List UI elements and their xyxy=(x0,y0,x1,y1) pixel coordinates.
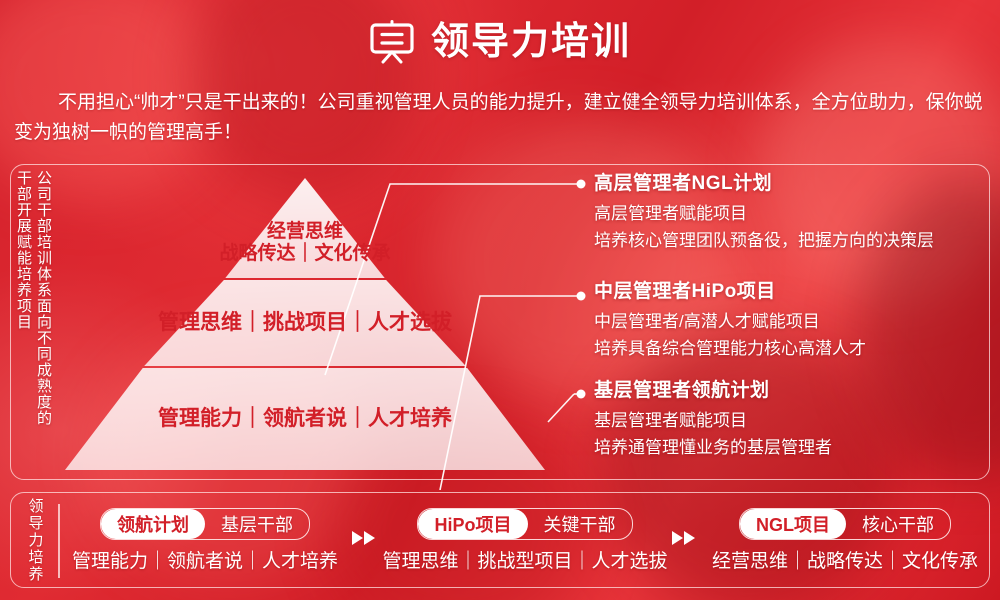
annotation-pilot-title: 基层管理者领航计划 xyxy=(594,379,994,403)
stage-desc-ngl: 经营思维｜战略传达｜文化传承 xyxy=(712,546,978,573)
subtitle-paragraph: 不用担心“帅才”只是干出来的！公司重视管理人员的能力提升，建立健全领导力培训体系… xyxy=(0,88,1000,148)
annotation-pilot: 基层管理者领航计划 基层管理者赋能项目 培养通管理懂业务的基层管理者 xyxy=(594,379,994,461)
stage-pill-hipo-sub: 关键干部 xyxy=(528,509,632,539)
annotation-hipo-line1: 中层管理者/高潜人才赋能项目 xyxy=(594,308,994,335)
annotation-pilot-line2: 培养通管理懂业务的基层管理者 xyxy=(594,434,994,461)
annotation-hipo: 中层管理者HiPo项目 中层管理者/高潜人才赋能项目 培养具备综合管理能力核心高… xyxy=(594,280,994,362)
annotation-ngl: 高层管理者NGL计划 高层管理者赋能项目 培养核心管理团队预备役，把握方向的决策… xyxy=(594,172,994,254)
page-header: 领导力培训 xyxy=(0,14,1000,70)
stage-item-ngl[interactable]: NGL项目 核心干部 经营思维｜战略传达｜文化传承 xyxy=(702,508,988,573)
stage-desc-pilot: 管理能力｜领航者说｜人才培养 xyxy=(72,546,338,573)
pyramid-tier-top[interactable]: 经营思维 战略传达｜文化传承 xyxy=(65,178,545,278)
annotation-hipo-line2: 培养具备综合管理能力核心高潜人才 xyxy=(594,335,994,362)
pyramid-tier-top-line2: 战略传达｜文化传承 xyxy=(219,243,390,265)
pyramid-tier-top-line1: 经营思维 xyxy=(219,221,390,243)
vertical-caption-col-2: 干部开展赋能培养项目 xyxy=(14,170,33,475)
double-chevron-right-icon xyxy=(348,530,382,550)
stage-pill-pilot-sub: 基层干部 xyxy=(205,509,309,539)
annotation-hipo-title: 中层管理者HiPo项目 xyxy=(594,280,994,304)
stage-item-pilot[interactable]: 领航计划 基层干部 管理能力｜领航者说｜人才培养 xyxy=(62,508,348,573)
presentation-board-icon xyxy=(369,20,415,64)
stage-pill-ngl-sub: 核心干部 xyxy=(846,509,950,539)
stage-pill-hipo[interactable]: HiPo项目 关键干部 xyxy=(417,508,632,540)
double-chevron-right-icon xyxy=(668,530,702,550)
vertical-caption-bottom: 领导力培养 xyxy=(22,500,48,580)
stage-pill-ngl[interactable]: NGL项目 核心干部 xyxy=(739,508,951,540)
stage-desc-hipo: 管理思维｜挑战型项目｜人才选拔 xyxy=(382,546,667,573)
vertical-caption-left: 公司干部培训体系面向不同成熟度的 干部开展赋能培养项目 xyxy=(14,170,58,475)
pyramid-tier-bottom-text: 管理能力｜领航者说｜人才培养 xyxy=(158,407,452,432)
bottom-panel-divider xyxy=(58,504,60,578)
annotation-pilot-line1: 基层管理者赋能项目 xyxy=(594,407,994,434)
annotation-ngl-line2: 培养核心管理团队预备役，把握方向的决策层 xyxy=(594,227,994,254)
stage-pill-hipo-main: HiPo项目 xyxy=(418,509,527,539)
poster-canvas: 领导力培训 不用担心“帅才”只是干出来的！公司重视管理人员的能力提升，建立健全领… xyxy=(0,0,1000,600)
pyramid-tier-top-text: 经营思维 战略传达｜文化传承 xyxy=(219,191,390,266)
stage-track: 领航计划 基层干部 管理能力｜领航者说｜人才培养 HiPo项目 关键干部 管理思… xyxy=(62,498,988,582)
pyramid-diagram: 经营思维 战略传达｜文化传承 管理思维｜挑战项目｜人才选拔 管理能力｜领航者说｜… xyxy=(65,178,545,470)
pyramid-tier-middle-text: 管理思维｜挑战项目｜人才选拔 xyxy=(158,311,452,336)
pyramid-tier-middle[interactable]: 管理思维｜挑战项目｜人才选拔 xyxy=(65,280,545,366)
annotation-ngl-title: 高层管理者NGL计划 xyxy=(594,172,994,196)
stage-pill-pilot[interactable]: 领航计划 基层干部 xyxy=(100,508,310,540)
stage-pill-ngl-main: NGL项目 xyxy=(740,509,846,539)
stage-pill-pilot-main: 领航计划 xyxy=(101,509,205,539)
vertical-caption-col-1: 公司干部培训体系面向不同成熟度的 xyxy=(34,170,53,475)
pyramid-tier-bottom[interactable]: 管理能力｜领航者说｜人才培养 xyxy=(65,368,545,470)
vertical-caption-bottom-text: 领导力培养 xyxy=(25,498,46,583)
page-title: 领导力培训 xyxy=(431,23,631,61)
stage-item-hipo[interactable]: HiPo项目 关键干部 管理思维｜挑战型项目｜人才选拔 xyxy=(382,508,668,573)
annotation-ngl-line1: 高层管理者赋能项目 xyxy=(594,200,994,227)
